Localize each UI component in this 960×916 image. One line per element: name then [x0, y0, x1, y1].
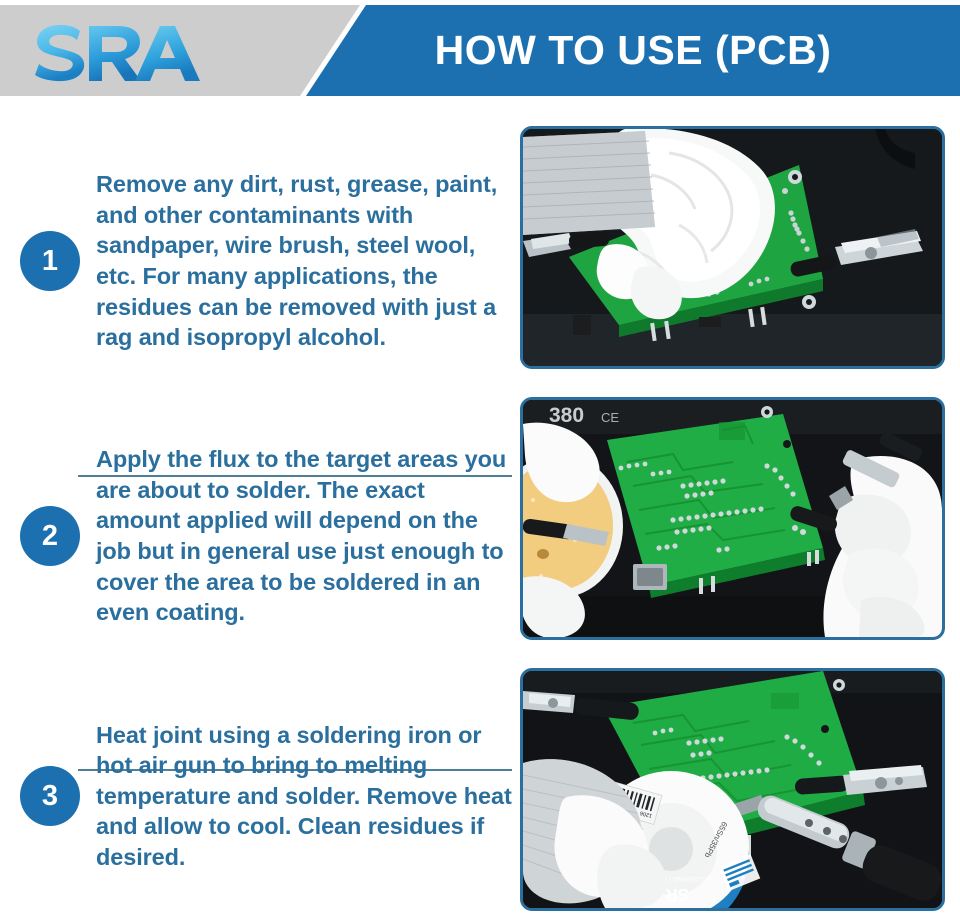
page-title: HOW TO USE (PCB)	[306, 5, 960, 96]
step-number-badge-3: 3	[20, 766, 80, 826]
page-header: HOW TO USE (PCB)	[0, 5, 960, 96]
photo-2-illustration: 380 CE	[523, 400, 942, 637]
step-photo-2: 380 CE	[520, 397, 945, 640]
sra-logo	[32, 21, 202, 83]
step-number-badge-1: 1	[20, 231, 80, 291]
svg-text:CE: CE	[601, 410, 619, 425]
step-text-1: Remove any dirt, rust, grease, paint, an…	[96, 169, 520, 352]
step-text-2: Apply the flux to the target areas you a…	[96, 444, 520, 627]
photo-3-illustration: SRA SOLDERING | PRODUCTS 1206 *0081 09 3…	[523, 671, 942, 908]
step-item-1: 1 Remove any dirt, rust, grease, paint, …	[0, 156, 520, 366]
step-photo-1	[520, 126, 945, 369]
photo-2-device-label: 380	[549, 404, 584, 427]
photo-1-illustration	[523, 129, 942, 366]
step-number-badge-2: 2	[20, 506, 80, 566]
step-item-3: 3 Heat joint using a soldering iron or h…	[0, 696, 520, 896]
steps-column: 1 Remove any dirt, rust, grease, paint, …	[0, 96, 520, 916]
step-item-2: 2 Apply the flux to the target areas you…	[0, 431, 520, 641]
step-photo-3: SRA SOLDERING | PRODUCTS 1206 *0081 09 3…	[520, 668, 945, 911]
step-text-3: Heat joint using a soldering iron or hot…	[96, 720, 520, 873]
